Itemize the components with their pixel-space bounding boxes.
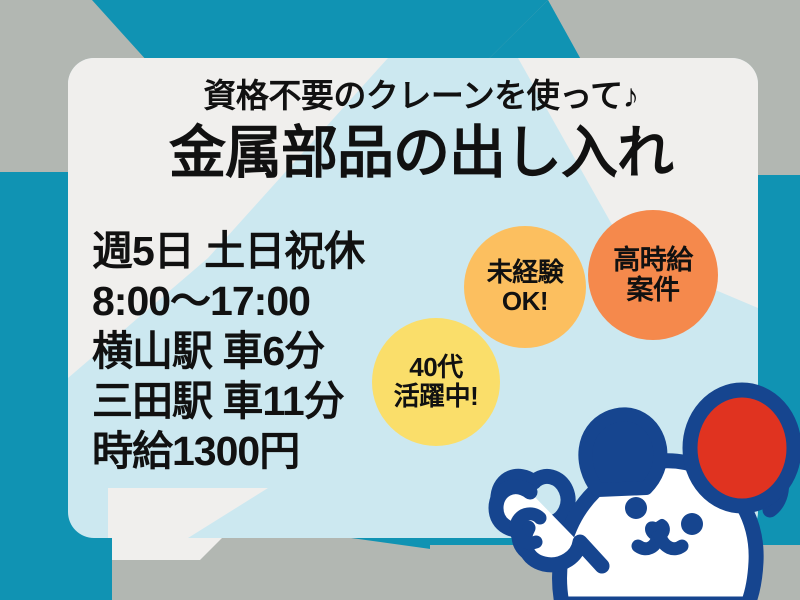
detail-line-workdays: 週5日 土日祝休 <box>92 226 422 276</box>
cat-mascot-illustration <box>470 352 800 600</box>
badge-high-wage: 高時給 案件 <box>588 210 718 340</box>
card-highlight-bottom-left <box>108 488 268 538</box>
mascot-ear-left <box>585 414 660 490</box>
headline-kicker: 資格不要のクレーンを使って♪ <box>96 78 746 114</box>
job-details-list: 週5日 土日祝休 8:00〜17:00 横山駅 車6分 三田駅 車11分 時給1… <box>92 226 422 476</box>
badge-inexperienced-line2: OK! <box>502 287 548 316</box>
headline-block: 資格不要のクレーンを使って♪ 金属部品の出し入れ <box>96 78 746 186</box>
cat-mascot-svg <box>470 352 800 600</box>
detail-line-wage: 時給1300円 <box>92 426 422 476</box>
badge-forties-line2: 活躍中! <box>394 382 479 411</box>
badge-inexperienced-line1: 未経験 <box>487 258 564 287</box>
balloon-red <box>690 390 794 506</box>
badge-high-wage-line2: 案件 <box>627 275 680 306</box>
badge-inexperienced: 未経験 OK! <box>464 226 586 348</box>
badge-high-wage-line1: 高時給 <box>613 245 693 276</box>
headline-main: 金属部品の出し入れ <box>96 122 746 186</box>
detail-line-hours: 8:00〜17:00 <box>92 276 422 326</box>
badge-forties-line1: 40代 <box>409 353 462 382</box>
mascot-eye-right <box>681 513 703 535</box>
poster-canvas: 資格不要のクレーンを使って♪ 金属部品の出し入れ 週5日 土日祝休 8:00〜1… <box>0 0 800 600</box>
mascot-eye-left <box>625 497 647 519</box>
